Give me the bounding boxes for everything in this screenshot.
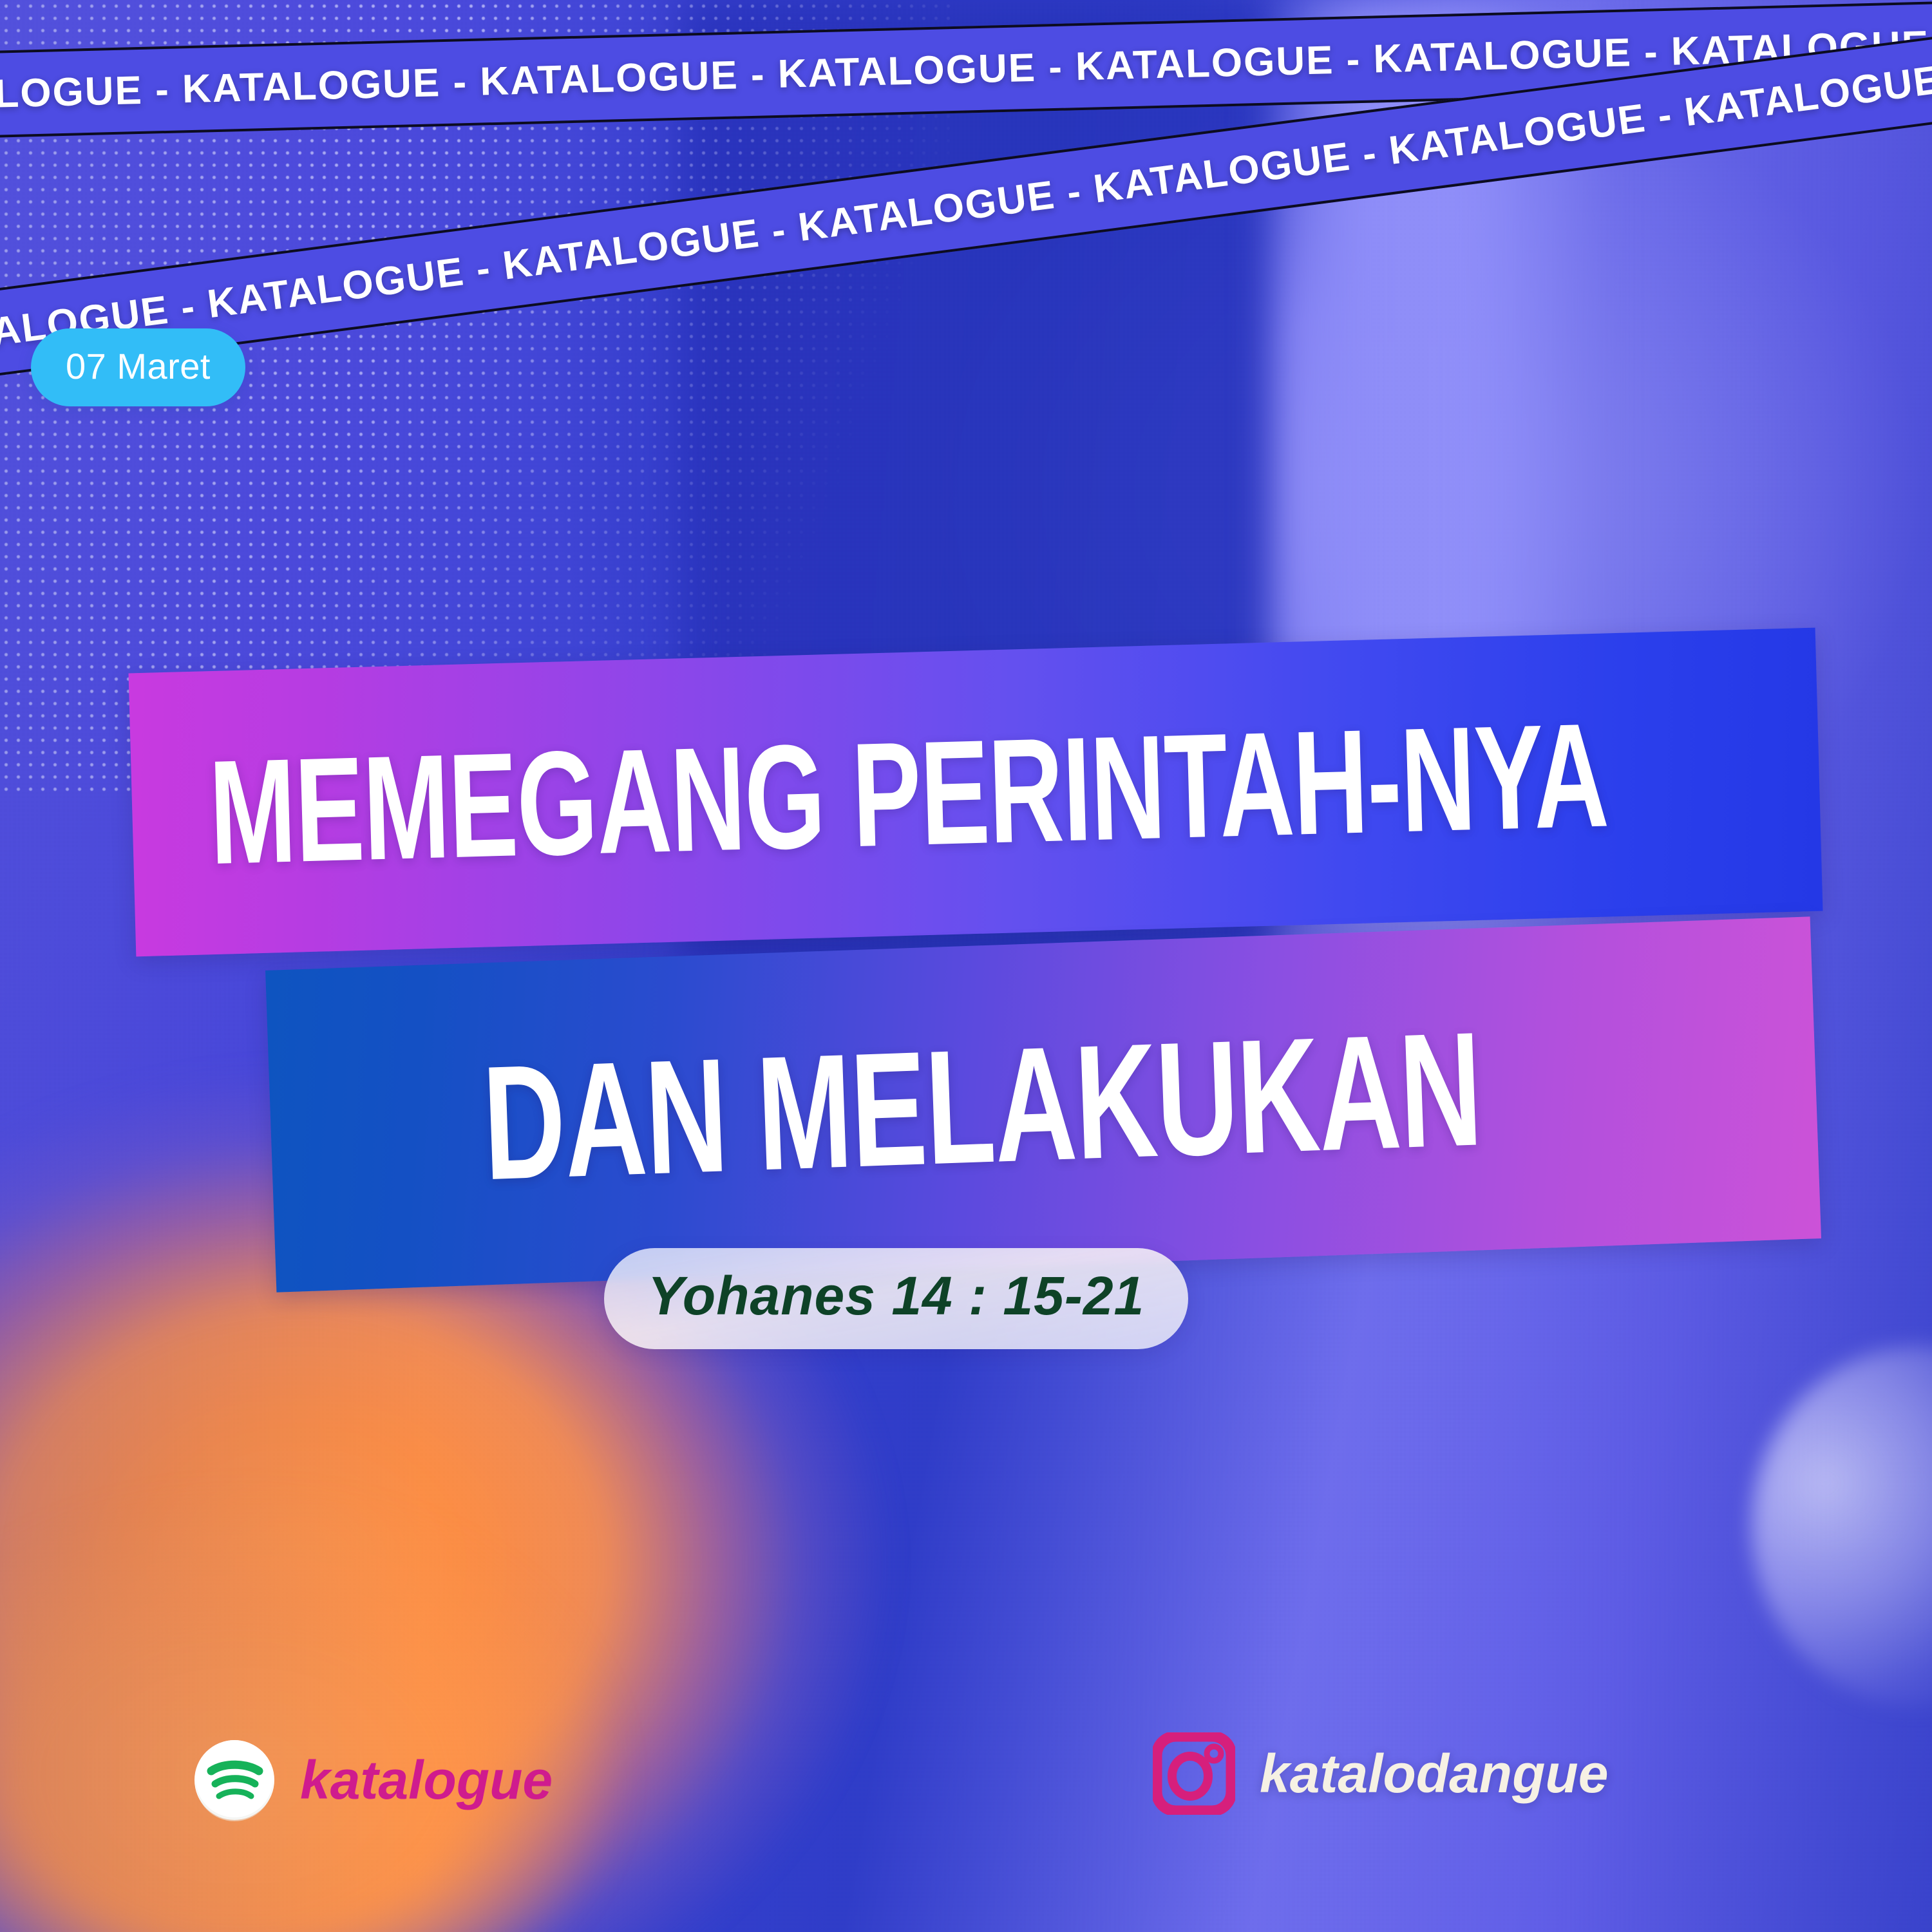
headline-band-secondary: DAN MELAKUKAN <box>265 916 1821 1292</box>
date-badge: 07 Maret <box>31 328 245 406</box>
spotify-handle-label: katalogue <box>300 1749 553 1812</box>
headline-band-primary: MEMEGANG PERINTAH-NYA <box>129 628 1823 957</box>
instagram-handle-label: katalodangue <box>1260 1743 1608 1805</box>
headline-line-1: MEMEGANG PERINTAH-NYA <box>208 707 1609 881</box>
spotify-icon <box>193 1739 276 1821</box>
verse-reference-badge: Yohanes 14 : 15-21 <box>604 1248 1188 1349</box>
instagram-icon <box>1153 1732 1235 1815</box>
headline-line-2: DAN MELAKUKAN <box>480 1014 1483 1198</box>
instagram-credit[interactable]: katalodangue <box>1153 1732 1608 1815</box>
social-post-canvas: KATALOGUE - KATALOGUE - KATALOGUE - KATA… <box>0 0 1932 1932</box>
spotify-credit[interactable]: katalogue <box>193 1739 553 1821</box>
